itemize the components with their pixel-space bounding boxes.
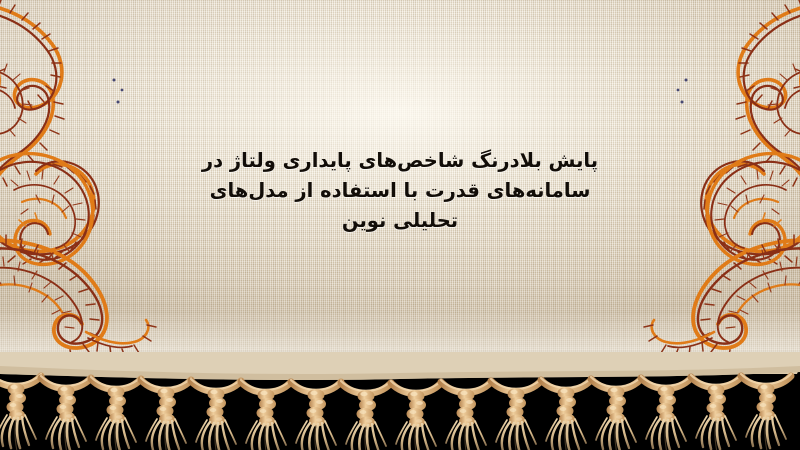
tasseled-fringe <box>0 352 800 450</box>
title-line-1: پایش بلادرنگ شاخص‌های پایداری ولتاژ در <box>150 146 650 176</box>
title-line-2: سامانه‌های قدرت با استفاده از مدل‌های <box>150 176 650 206</box>
slide-canvas: پایش بلادرنگ شاخص‌های پایداری ولتاژ در س… <box>0 0 800 450</box>
slide-title: پایش بلادرنگ شاخص‌های پایداری ولتاژ در س… <box>0 146 800 236</box>
title-line-3: تحلیلی نوین <box>150 206 650 236</box>
